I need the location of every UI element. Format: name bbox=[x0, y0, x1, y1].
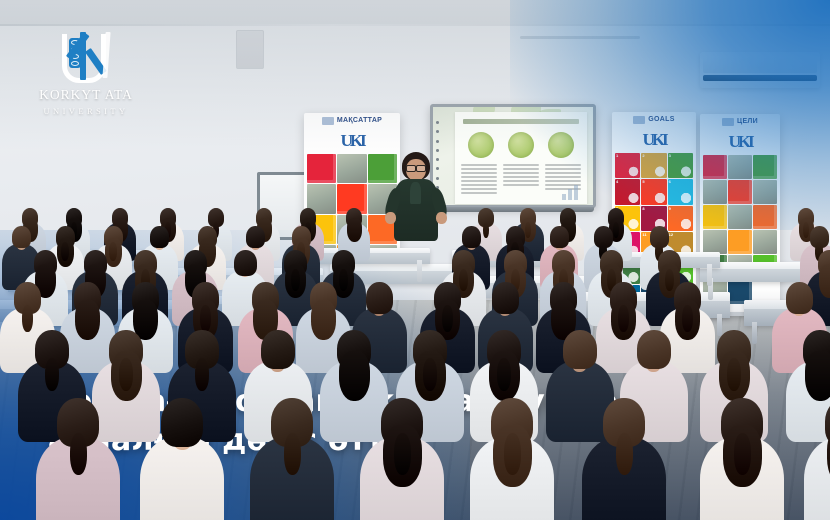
ac-vent-slat bbox=[703, 75, 817, 81]
logo-subname: UNIVERSITY bbox=[38, 106, 134, 116]
korkyt-ata-university-logo: KORKYT ATA UNIVERSITY bbox=[38, 28, 134, 116]
ac-body bbox=[703, 57, 817, 73]
student-hair bbox=[550, 226, 569, 248]
student-ponytail bbox=[423, 358, 437, 391]
lecturer-hand-left bbox=[385, 212, 396, 224]
lecturer-shirt bbox=[410, 182, 421, 204]
student bbox=[140, 398, 224, 520]
slide-chart-decor bbox=[562, 184, 582, 200]
sdg-goal-tile-7 bbox=[703, 205, 727, 229]
sdg-goal-tile-5: 5 bbox=[641, 179, 666, 204]
uki-mark: UKI bbox=[728, 132, 751, 152]
student-hair bbox=[366, 282, 393, 314]
banner-university-mark: UKI bbox=[700, 129, 780, 155]
sdg-goal-tile-4: 4 bbox=[615, 179, 640, 204]
sdg-goal-tile-6 bbox=[753, 180, 777, 204]
student-ponytail bbox=[195, 358, 209, 391]
student-ponytail bbox=[734, 433, 751, 475]
student bbox=[250, 398, 334, 520]
student bbox=[582, 398, 666, 520]
banner-header-text: МАҚСАТТАР bbox=[337, 117, 382, 124]
student bbox=[36, 398, 120, 520]
student-ponytail bbox=[442, 305, 453, 332]
logo-name: KORKYT ATA bbox=[38, 88, 134, 103]
sdg-goal-tile-6: 6 bbox=[668, 179, 693, 204]
sdg-goal-tile-5 bbox=[728, 180, 752, 204]
slide-circle-row bbox=[461, 132, 581, 158]
student-hair bbox=[637, 330, 671, 369]
student-hair bbox=[246, 226, 265, 248]
student-ponytail bbox=[70, 433, 87, 475]
ceiling bbox=[0, 0, 830, 26]
sdg-goal-tile-1 bbox=[703, 155, 727, 179]
student-long-hair bbox=[805, 351, 830, 401]
logo-mark bbox=[38, 28, 134, 88]
banner-header-english: GOALS bbox=[612, 112, 696, 127]
slide-circle bbox=[508, 132, 534, 158]
uki-mark: UKI bbox=[642, 130, 665, 150]
student bbox=[470, 398, 554, 520]
sdg-goal-tile-12 bbox=[753, 230, 777, 254]
sdg-goal-tile-3 bbox=[753, 155, 777, 179]
student-ponytail bbox=[45, 358, 59, 391]
un-emblem-icon bbox=[322, 117, 334, 125]
whiteboard-screen bbox=[433, 107, 593, 205]
student-hair bbox=[150, 226, 169, 248]
lecturer-hand-right bbox=[436, 212, 447, 224]
banner-header-text: GOALS bbox=[648, 116, 674, 123]
student-hair bbox=[492, 282, 519, 314]
sdg-goal-tile-8 bbox=[728, 205, 752, 229]
slide-text-column bbox=[503, 164, 539, 200]
sdg-goal-tile-2 bbox=[337, 154, 366, 183]
slide-circle bbox=[468, 132, 494, 158]
student bbox=[804, 398, 830, 520]
student-ponytail bbox=[616, 433, 633, 475]
sdg-goal-tile-10 bbox=[703, 230, 727, 254]
lecturer bbox=[385, 152, 447, 250]
un-emblem-icon bbox=[633, 116, 645, 124]
interactive-whiteboard bbox=[430, 104, 596, 208]
student-ponytail bbox=[727, 358, 741, 391]
sdg-goal-tile-1: 1 bbox=[615, 153, 640, 178]
student-hair bbox=[12, 226, 31, 248]
banner-header-text: ЦЕЛИ bbox=[737, 118, 758, 125]
un-emblem-icon bbox=[722, 118, 734, 126]
sdg-goal-tile-9 bbox=[753, 205, 777, 229]
student bbox=[360, 398, 444, 520]
student-ponytail bbox=[284, 433, 301, 475]
slide-text-column bbox=[461, 164, 497, 200]
student-ponytail bbox=[200, 305, 211, 332]
air-conditioner bbox=[700, 52, 820, 88]
student-long-hair bbox=[347, 218, 362, 242]
sdg-goal-tile-2 bbox=[728, 155, 752, 179]
student-hair bbox=[234, 250, 257, 276]
student-long-hair bbox=[339, 351, 370, 401]
slide-title-bar bbox=[463, 119, 579, 124]
student-ponytail bbox=[119, 358, 133, 391]
banner-university-mark: UKI bbox=[612, 127, 696, 153]
sdg-goal-tile-4 bbox=[703, 180, 727, 204]
sdg-goal-tile-11 bbox=[728, 230, 752, 254]
student-ponytail bbox=[618, 305, 629, 332]
uki-mark: UKI bbox=[340, 131, 363, 151]
presentation-slide bbox=[455, 112, 587, 204]
banner-header-russian: ЦЕЛИ bbox=[700, 114, 780, 129]
ceiling-rail bbox=[520, 36, 640, 39]
sdg-goal-tile-3: 3 bbox=[668, 153, 693, 178]
slide-circle bbox=[548, 132, 574, 158]
banner-university-mark: UKI bbox=[304, 128, 400, 154]
banner-header-kazakh: МАҚСАТТАР bbox=[304, 113, 400, 128]
student-hair bbox=[462, 226, 481, 248]
student-hair bbox=[563, 330, 597, 369]
student-ponytail bbox=[394, 433, 411, 475]
student-ponytail bbox=[22, 305, 33, 332]
sdg-goal-tile-2: 2 bbox=[641, 153, 666, 178]
student-hair bbox=[261, 330, 295, 369]
event-photo-card: МАҚСАТТАР UKI GOALS UKI 1234567891011121… bbox=[0, 0, 830, 520]
student-ponytail bbox=[504, 433, 521, 475]
student-hair bbox=[786, 282, 813, 314]
student bbox=[700, 398, 784, 520]
glasses-icon bbox=[406, 165, 426, 170]
sdg-goal-tile-1 bbox=[307, 154, 336, 183]
student-hair bbox=[161, 398, 203, 447]
wall-vent bbox=[236, 30, 264, 69]
student-ponytail bbox=[497, 358, 511, 391]
student-ponytail bbox=[682, 305, 693, 332]
